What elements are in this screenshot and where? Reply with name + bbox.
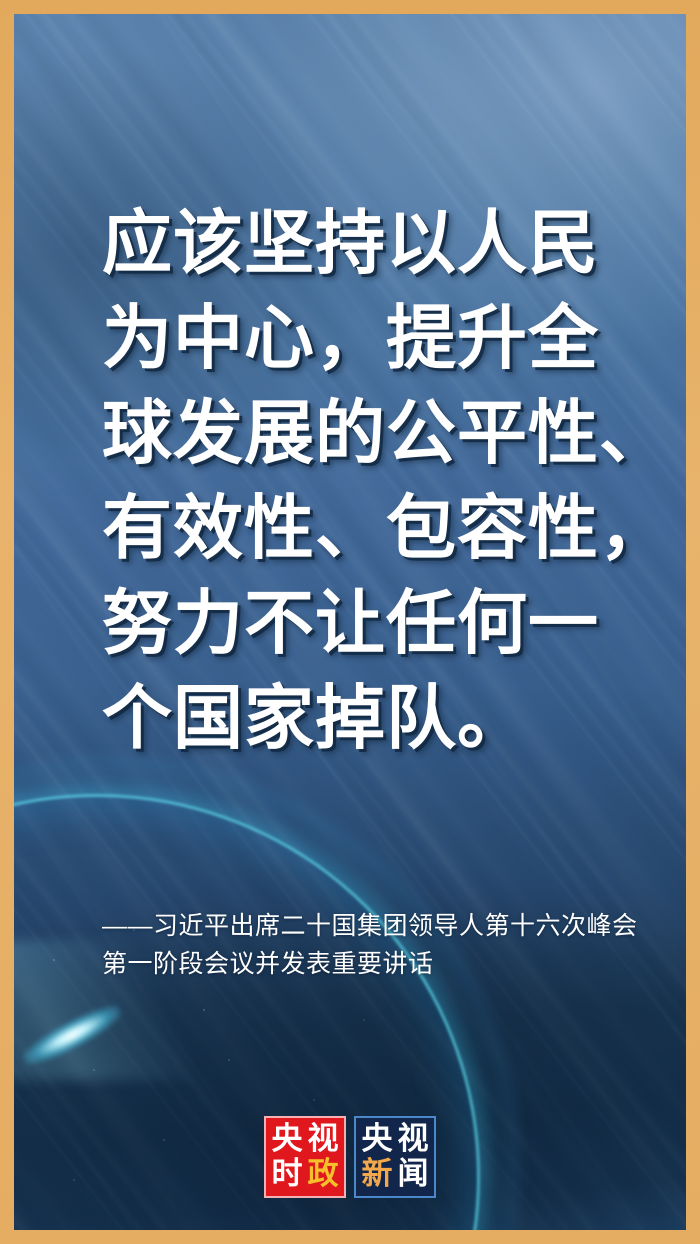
attribution-line-2: 第一阶段会议并发表重要讲话 xyxy=(102,945,662,983)
logo-row: 央 视 时 政 央 视 新 闻 xyxy=(14,1116,686,1198)
attribution-line-1: ——习近平出席二十国集团领导人第十六次峰会 xyxy=(102,907,662,945)
headline-line-3: 球发展的公平性、 xyxy=(102,386,662,481)
attribution-block: ——习近平出席二十国集团领导人第十六次峰会 第一阶段会议并发表重要讲话 xyxy=(102,907,662,983)
logo-cctv-shizheng[interactable]: 央 视 时 政 xyxy=(264,1116,346,1198)
logo-shizheng-char-1: 央 xyxy=(272,1124,303,1155)
logo-xinwen-char-2: 视 xyxy=(398,1124,429,1155)
headline-line-2: 为中心，提升全 xyxy=(102,291,662,386)
logo-shizheng-char-4: 政 xyxy=(308,1159,339,1190)
poster-canvas: 应该坚持以人民 为中心，提升全 球发展的公平性、 有效性、包容性， 努力不让任何… xyxy=(14,14,686,1230)
poster-root: 应该坚持以人民 为中心，提升全 球发展的公平性、 有效性、包容性， 努力不让任何… xyxy=(0,0,700,1244)
logo-shizheng-char-3: 时 xyxy=(272,1159,303,1190)
logo-shizheng-char-2: 视 xyxy=(308,1124,339,1155)
headline-line-5: 努力不让任何一 xyxy=(102,576,662,671)
logo-xinwen-char-1: 央 xyxy=(362,1124,393,1155)
headline-line-6: 个国家掉队。 xyxy=(102,671,662,766)
logo-xinwen-char-3: 新 xyxy=(362,1159,393,1190)
headline-line-4: 有效性、包容性， xyxy=(102,481,662,576)
headline-line-1: 应该坚持以人民 xyxy=(102,196,662,291)
headline-block: 应该坚持以人民 为中心，提升全 球发展的公平性、 有效性、包容性， 努力不让任何… xyxy=(102,196,662,766)
logo-cctv-xinwen[interactable]: 央 视 新 闻 xyxy=(354,1116,436,1198)
logo-xinwen-char-4: 闻 xyxy=(398,1159,429,1190)
